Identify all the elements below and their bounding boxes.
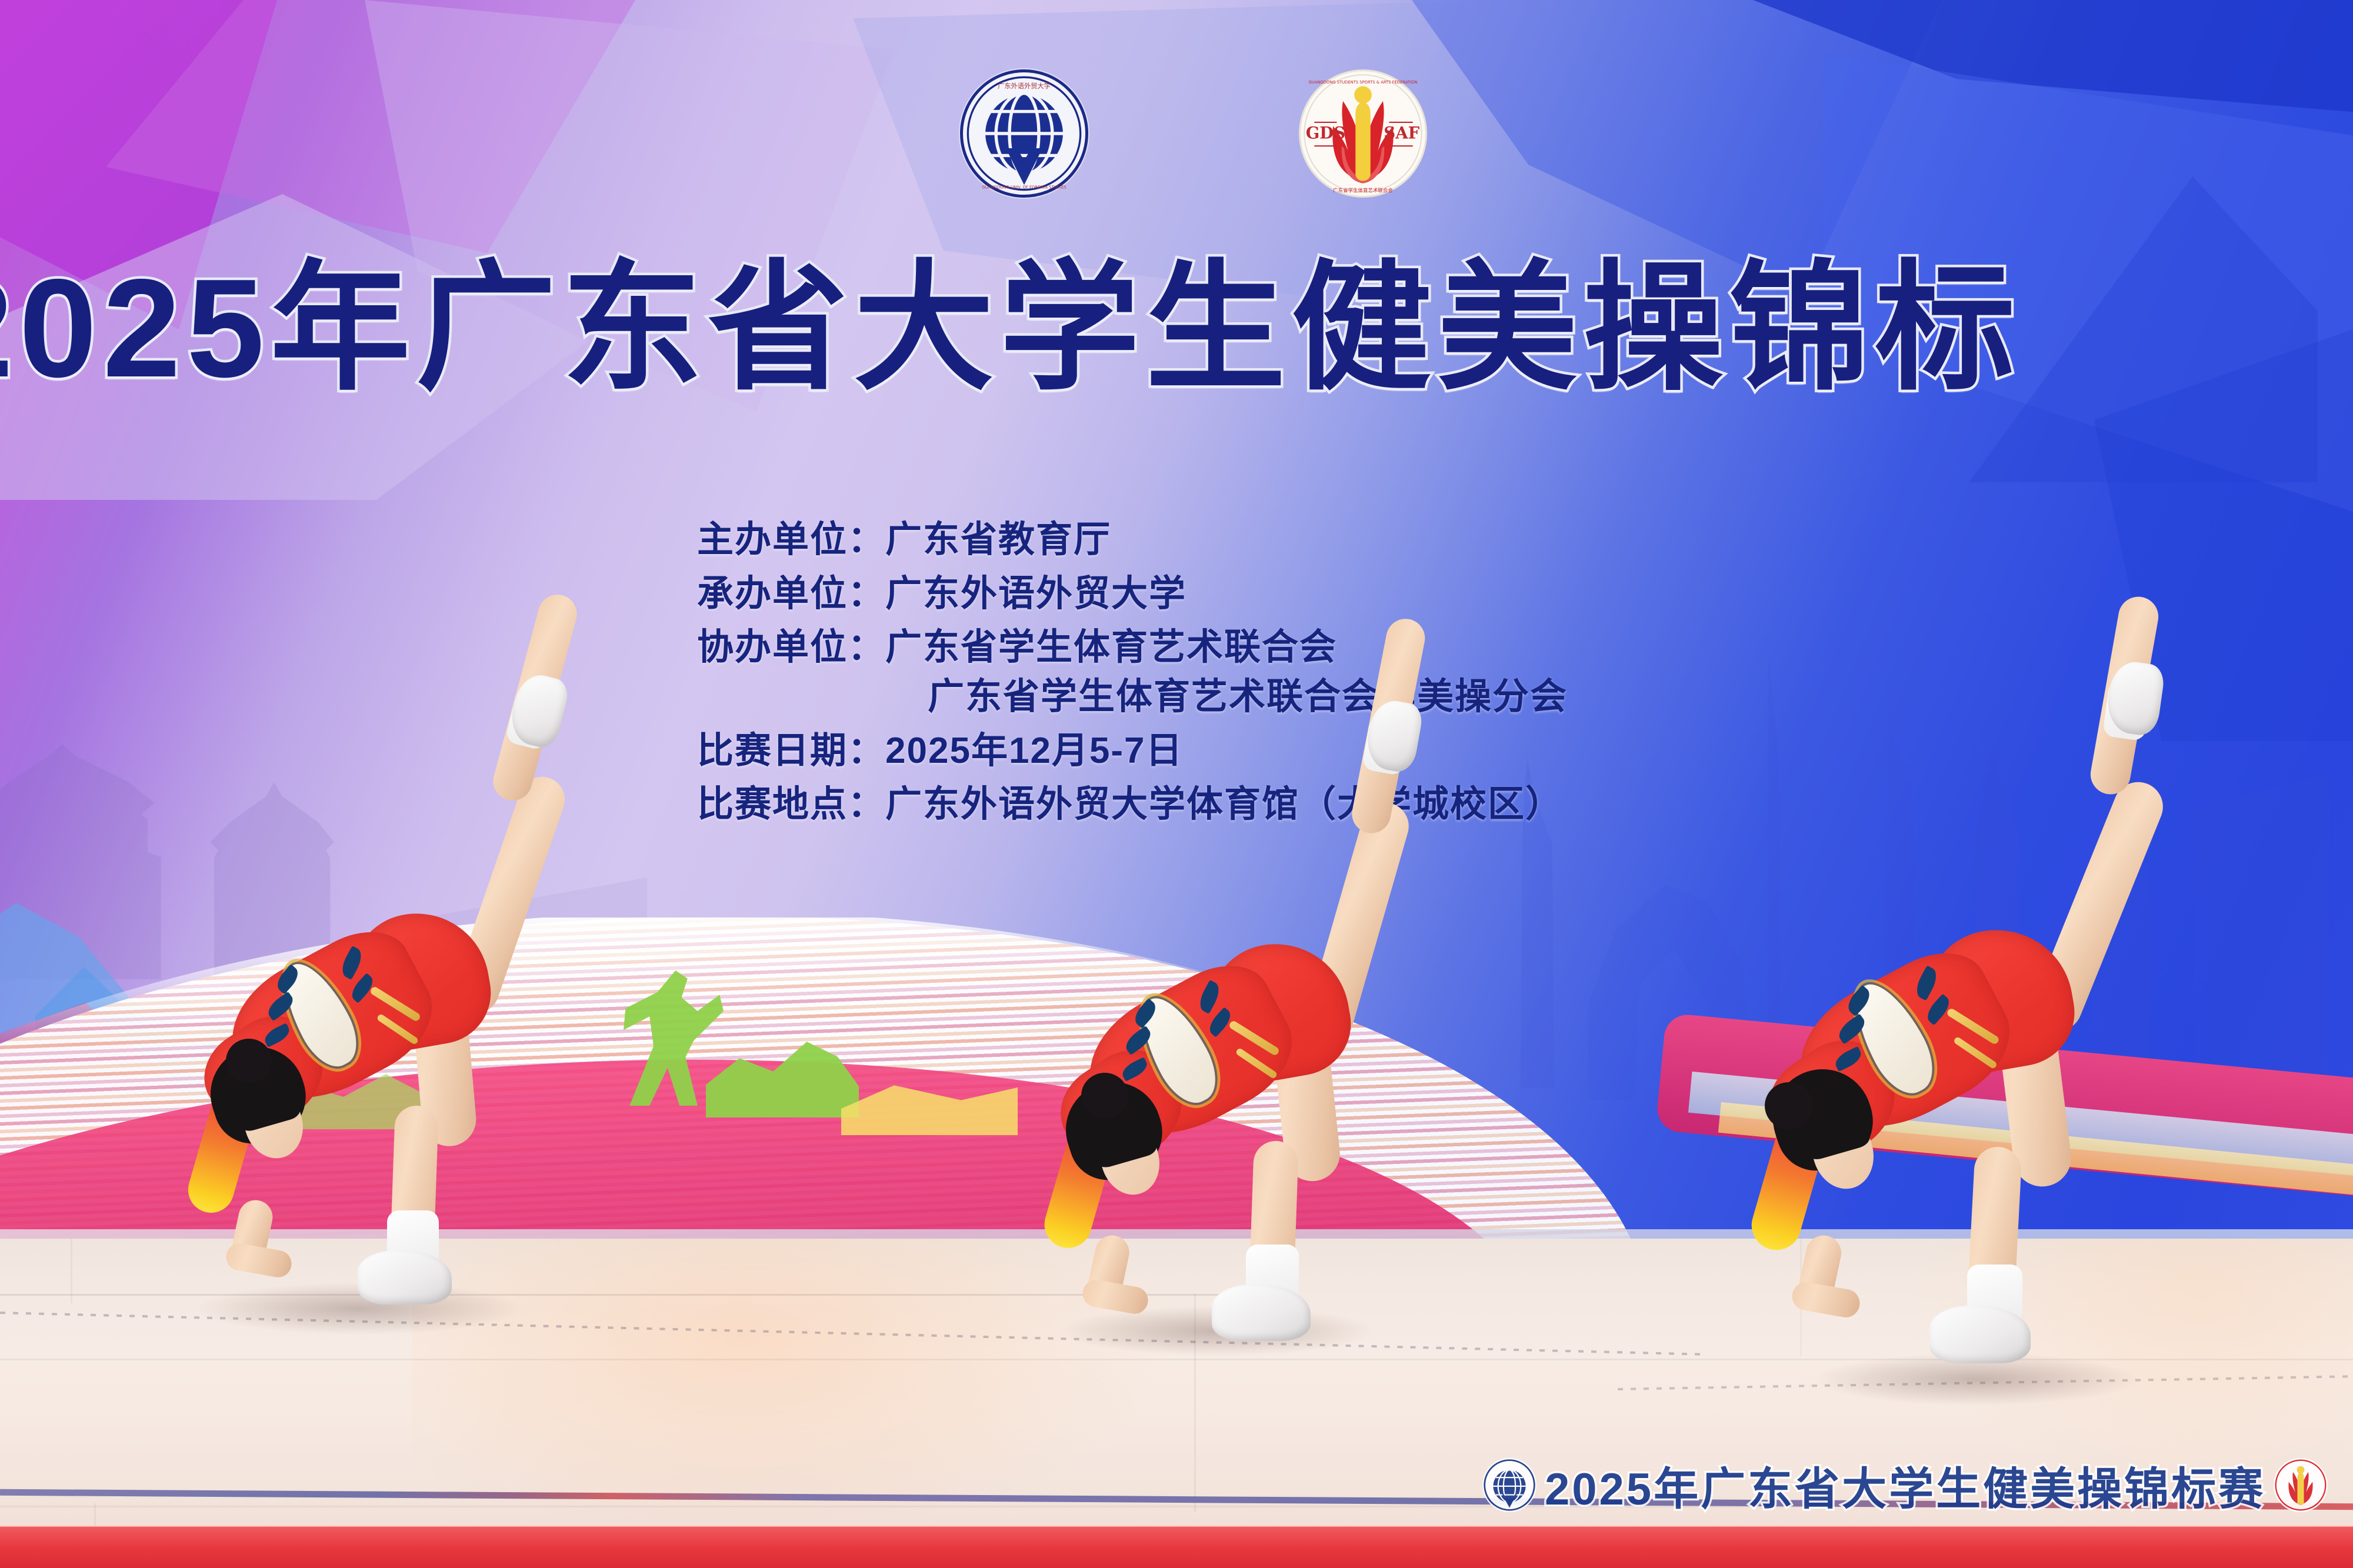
svg-text:GDS: GDS xyxy=(1306,124,1345,142)
info-label: 承办单位： xyxy=(697,572,885,616)
standing-shoe xyxy=(1212,1285,1311,1341)
info-row-coorganizer-2: 广东省学生体育艺术联合会健美操分会 xyxy=(697,675,1568,719)
info-value: 广东省学生体育艺术联合会健美操分会 xyxy=(928,675,1568,719)
info-row-date: 比赛日期：2025年12月5-7日 xyxy=(697,729,1568,773)
floor-red-border xyxy=(0,1527,2353,1568)
info-row-venue: 比赛地点：广东外语外贸大学体育馆（大学城校区） xyxy=(697,782,1568,827)
standing-shoe xyxy=(358,1250,452,1305)
info-value: 广东外语外贸大学体育馆（大学城校区） xyxy=(885,782,1563,827)
info-label: 比赛日期： xyxy=(697,729,885,773)
floor-seam xyxy=(71,1239,72,1303)
info-label: 比赛地点： xyxy=(697,782,885,827)
info-value: 广东外语外贸大学 xyxy=(885,572,1187,616)
info-row-organizer: 主办单位：广东省教育厅 xyxy=(697,518,1568,562)
watermark-gdsaf-logo-icon xyxy=(2274,1458,2328,1512)
gdsaf-logo-icon: GDS SAF GUANGDONG STUDENTS SPORTS & ARTS… xyxy=(1299,69,1427,198)
hair-bun xyxy=(1081,1073,1128,1119)
info-value: 2025年12月5-7日 xyxy=(885,729,1184,773)
svg-text:广东外语外贸大学: 广东外语外贸大学 xyxy=(998,82,1051,90)
banner-info-block: 主办单位：广东省教育厅 承办单位：广东外语外贸大学 协办单位：广东省学生体育艺术… xyxy=(697,518,1568,836)
watermark: 2025年广东省大学生健美操锦标赛 xyxy=(1482,1453,2328,1517)
svg-text:SAF: SAF xyxy=(1384,124,1419,142)
info-row-host: 承办单位：广东外语外贸大学 xyxy=(697,572,1568,616)
info-label: 主办单位： xyxy=(697,518,885,562)
watermark-gdufs-logo-icon xyxy=(1482,1458,1537,1512)
svg-text:GUANGDONG UNIV. OF FOREIGN STU: GUANGDONG UNIV. OF FOREIGN STUDIES xyxy=(982,185,1066,190)
svg-text:广东省学生体育艺术联合会: 广东省学生体育艺术联合会 xyxy=(1333,188,1393,194)
info-label: 协办单位： xyxy=(697,625,885,670)
screenshot-root: 广东外语外贸大学 GUANGDONG UNIV. OF FOREIGN STUD… xyxy=(0,0,2353,1568)
svg-text:GUANGDONG STUDENTS SPORTS & AR: GUANGDONG STUDENTS SPORTS & ARTS FEDERAT… xyxy=(1309,80,1418,85)
watermark-text: 2025年广东省大学生健美操锦标赛 xyxy=(1545,1453,2265,1517)
gdufs-logo-icon: 广东外语外贸大学 GUANGDONG UNIV. OF FOREIGN STUD… xyxy=(960,69,1088,198)
banner-title: 2025年广东省大学生健美操锦标 xyxy=(0,259,2353,399)
hair-bun xyxy=(226,1039,272,1083)
info-value: 广东省教育厅 xyxy=(885,518,1111,562)
info-value: 广东省学生体育艺术联合会 xyxy=(885,625,1337,670)
standing-shoe xyxy=(1929,1306,2031,1363)
info-row-coorganizer: 协办单位：广东省学生体育艺术联合会 xyxy=(697,625,1568,670)
